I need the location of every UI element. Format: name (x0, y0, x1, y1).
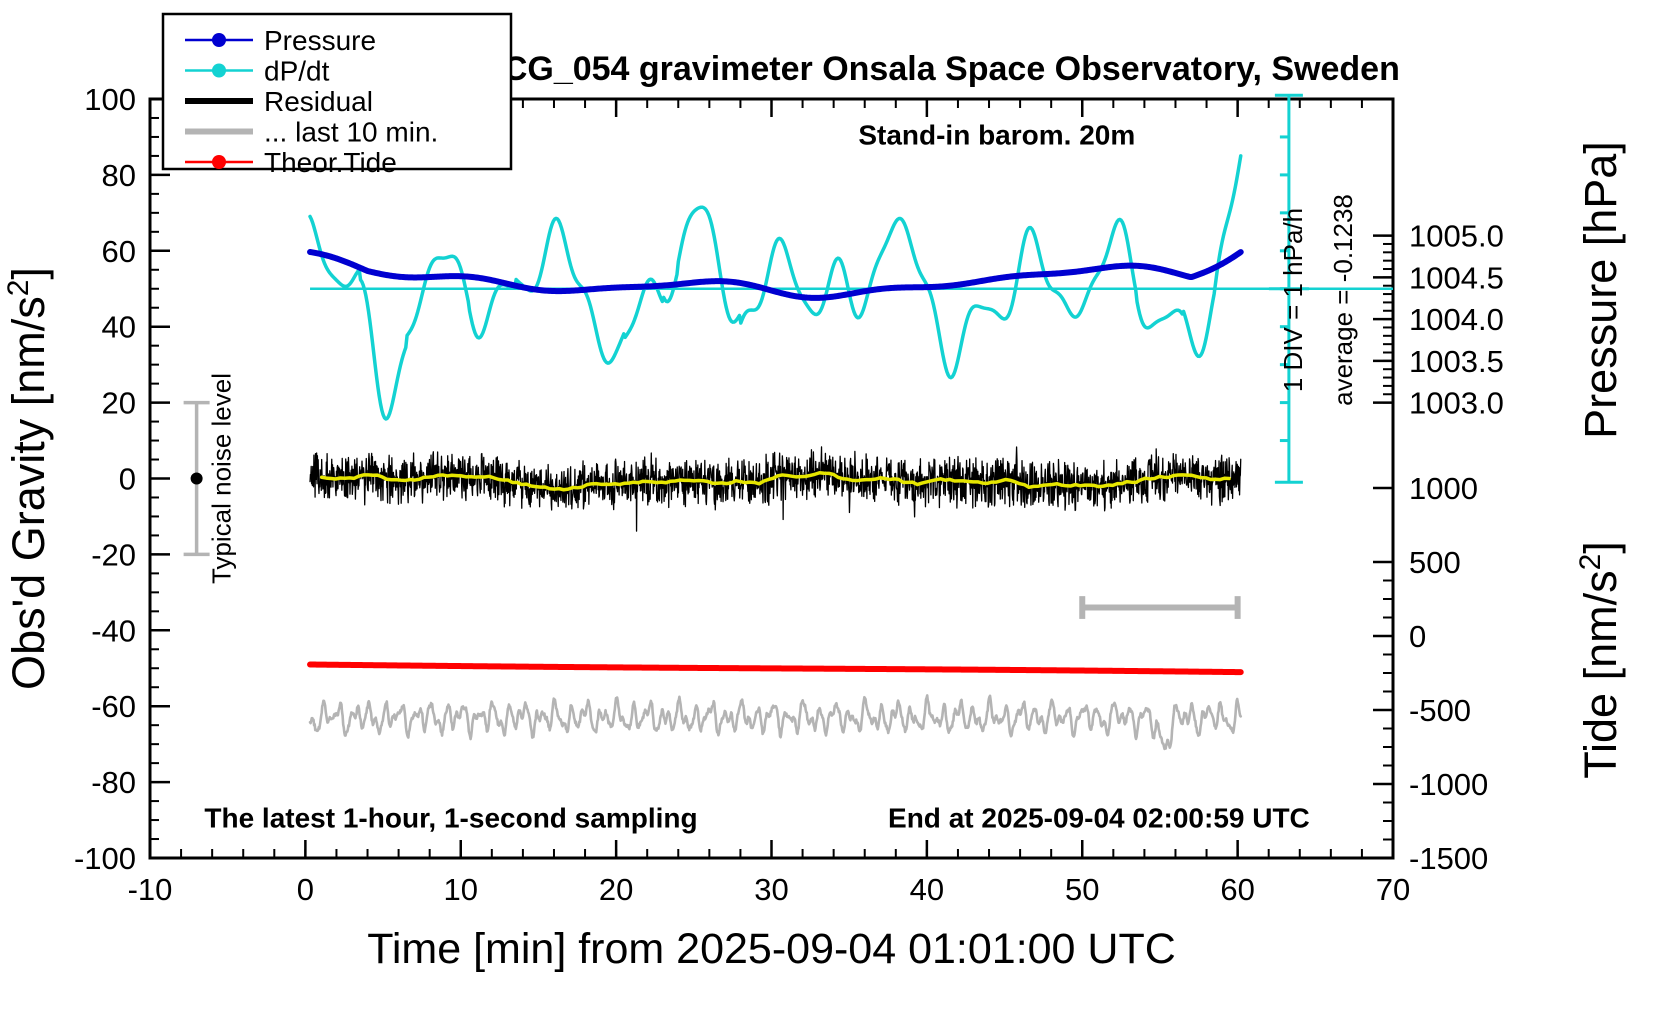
legend-label-3: ... last 10 min. (264, 117, 438, 148)
y-tick-label: 0 (119, 462, 136, 497)
tide-tick-label: 500 (1409, 545, 1461, 580)
x-tick-label: 30 (754, 872, 788, 907)
pressure-tick-label: 1004.5 (1409, 260, 1504, 295)
last10-series (310, 695, 1241, 748)
noise-level-dot (191, 473, 203, 485)
average-label: average = -0.1238 (1328, 194, 1358, 406)
div-scale-label: 1 DIV = 1 hPa/h (1278, 208, 1308, 392)
tide-tick-label: -500 (1409, 693, 1471, 728)
legend-marker-4 (212, 155, 226, 169)
x-tick-label: -10 (128, 872, 173, 907)
legend: PressuredP/dtResidual... last 10 min.The… (163, 14, 511, 178)
x-tick-label: 40 (910, 872, 944, 907)
y-tick-label: 80 (102, 158, 136, 193)
pressure-tick-label: 1003.5 (1409, 344, 1504, 379)
y-tick-label: 60 (102, 234, 136, 269)
pressure-tick-label: 1005.0 (1409, 219, 1504, 254)
dpdt-series (310, 156, 1241, 419)
residual-series (310, 447, 1241, 531)
chart-canvas: -10010203040506070Time [min] from 2025-0… (0, 0, 1660, 1020)
tide-series (310, 665, 1241, 673)
legend-label-4: Theor.Tide (264, 147, 397, 178)
y-axis-tide: -1500-1000-50005001000 (1373, 471, 1488, 876)
end-time-annotation: End at 2025-09-04 02:00:59 UTC (888, 803, 1310, 834)
y-tick-label: -20 (91, 537, 136, 572)
noise-level-label: Typical noise level (207, 373, 237, 584)
x-tick-label: 60 (1220, 872, 1254, 907)
y-tick-label: -40 (91, 613, 136, 648)
tide-tick-label: 0 (1409, 619, 1426, 654)
tide-tick-label: -1000 (1409, 767, 1488, 802)
y-tick-label: 100 (84, 82, 136, 117)
tide-axis-title: Tide [nm/s2] (1574, 541, 1627, 779)
y-tick-label: -100 (74, 841, 136, 876)
tide-tick-label: -1500 (1409, 841, 1488, 876)
pressure-tick-label: 1004.0 (1409, 302, 1504, 337)
y-axis-title: Obs'd Gravity [nm/s2] (2, 267, 55, 690)
x-tick-label: 10 (444, 872, 478, 907)
y-tick-label: -80 (91, 765, 136, 800)
y-tick-label: -60 (91, 689, 136, 724)
legend-label-2: Residual (264, 86, 373, 117)
legend-label-0: Pressure (264, 25, 376, 56)
x-tick-label: 50 (1065, 872, 1099, 907)
tide-tick-label: 1000 (1409, 471, 1478, 506)
latest-sampling-annotation: The latest 1-hour, 1-second sampling (204, 803, 697, 834)
y-axis-gravity: -100-80-60-40-20020406080100 (74, 82, 170, 876)
y-tick-label: 20 (102, 386, 136, 421)
legend-label-1: dP/dt (264, 56, 330, 87)
pressure-axis-title: Pressure [hPa] (1575, 141, 1626, 439)
y-tick-label: 40 (102, 310, 136, 345)
x-tick-label: 0 (297, 872, 314, 907)
chart-title: SCG_054 gravimeter Onsala Space Observat… (480, 50, 1400, 88)
x-axis-title: Time [min] from 2025-09-04 01:01:00 UTC (367, 925, 1176, 973)
pressure-series (310, 252, 1241, 298)
stand-in-barom-annotation: Stand-in barom. 20m (858, 120, 1135, 151)
x-tick-label: 20 (599, 872, 633, 907)
pressure-tick-label: 1003.0 (1409, 386, 1504, 421)
x-tick-label: 70 (1376, 872, 1410, 907)
legend-marker-1 (212, 64, 226, 78)
gravimeter-plot: -10010203040506070Time [min] from 2025-0… (0, 0, 1660, 1020)
legend-marker-0 (212, 33, 226, 47)
